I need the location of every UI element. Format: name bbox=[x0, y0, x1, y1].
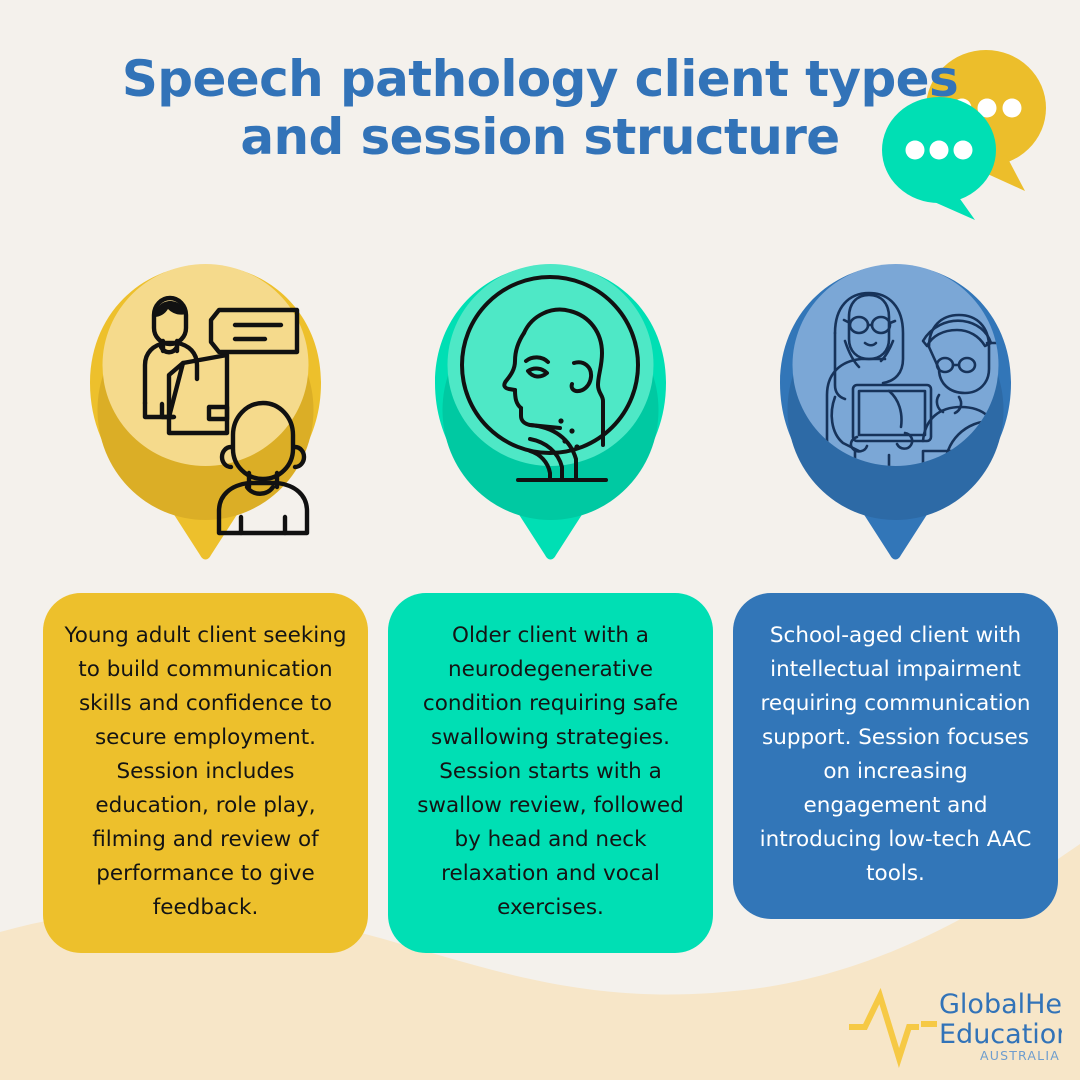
pin-shape-yellow bbox=[33, 255, 378, 565]
logo-line-2: Education bbox=[939, 1019, 1062, 1050]
page-title: Speech pathology client types and sessio… bbox=[0, 50, 1080, 166]
info-card-text: Young adult client seeking to build comm… bbox=[64, 623, 346, 920]
info-card-text: Older client with a neurodegenerative co… bbox=[417, 623, 684, 920]
pin-shape-teal bbox=[378, 255, 723, 565]
column-school-aged: School-aged client with intellectual imp… bbox=[723, 255, 1068, 919]
pin-marker-school-aged bbox=[723, 255, 1068, 565]
info-card-older-client: Older client with a neurodegenerative co… bbox=[388, 593, 713, 953]
brand-logo: GlobalHealth Education AUSTRALIA bbox=[847, 980, 1062, 1068]
pulse-line-icon bbox=[849, 996, 937, 1058]
column-young-adult: Young adult client seeking to build comm… bbox=[33, 255, 378, 953]
logo-line-3: AUSTRALIA bbox=[980, 1048, 1060, 1063]
pin-marker-older-client bbox=[378, 255, 723, 565]
page-title-line-2: and session structure bbox=[0, 108, 1080, 166]
pin-marker-young-adult bbox=[33, 255, 378, 565]
column-older-client: Older client with a neurodegenerative co… bbox=[378, 255, 723, 953]
info-card-text: School-aged client with intellectual imp… bbox=[760, 623, 1032, 886]
info-card-school-aged: School-aged client with intellectual imp… bbox=[733, 593, 1058, 919]
pin-shape-blue bbox=[723, 255, 1068, 565]
info-card-young-adult: Young adult client seeking to build comm… bbox=[43, 593, 368, 953]
page-title-line-1: Speech pathology client types bbox=[0, 50, 1080, 108]
logo-line-1: GlobalHealth bbox=[939, 989, 1062, 1020]
